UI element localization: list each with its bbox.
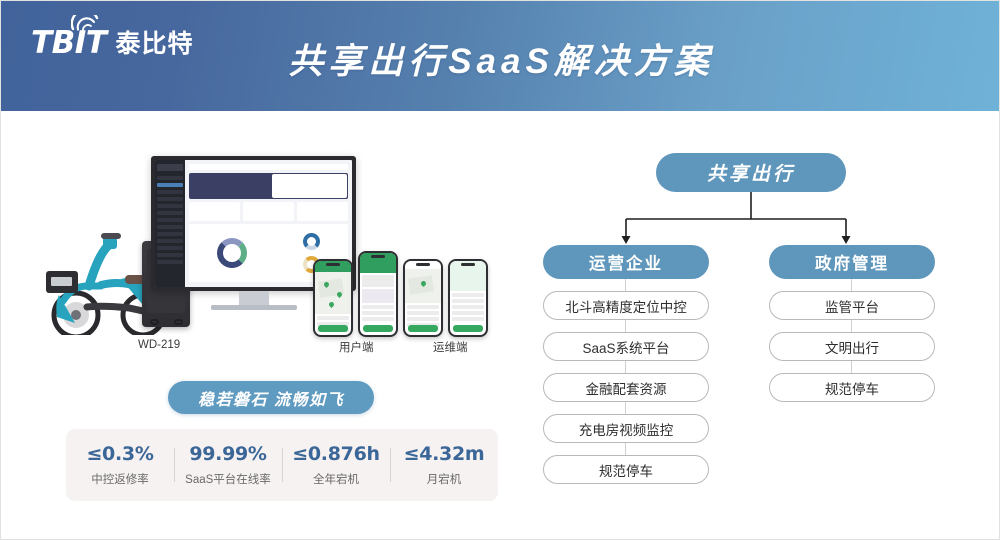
app-primary-button [318,325,348,332]
flow-connector [851,361,852,373]
solution-flowchart: 共享出行 运营企业 北斗高精度定位中控 SaaS系统平台 金融配套资源 充电房视… [521,111,1000,540]
phone-mockup [358,251,398,337]
stat-item: ≤0.3% 中控返修率 [66,443,174,488]
dashboard-stat-cards [189,202,348,221]
flow-leaf-government-1[interactable]: 监管平台 [769,291,935,320]
flow-connector [625,443,626,455]
flow-leaf-operator-1[interactable]: 北斗高精度定位中控 [543,291,709,320]
product-showcase: WD-219 用户端 运维端 稳若磐石 流畅如飞 ≤0.3% 中控返修率 99.… [1,111,521,540]
device-label-scooter: WD-219 [138,339,180,351]
stat-label: 全年宕机 [282,471,390,487]
stat-label: SaaS平台在线率 [174,471,282,487]
flow-node-root[interactable]: 共享出行 [656,153,846,192]
app-primary-button [408,325,438,332]
phone-screen [405,261,441,335]
slogan-badge: 稳若磐石 流畅如飞 [168,381,374,414]
stat-value: ≤0.876h [282,443,390,467]
dashboard-menu-item [157,176,183,180]
dashboard-menu-item [157,246,183,250]
flow-connector [625,279,626,291]
flow-node-branch-operator[interactable]: 运营企业 [543,245,709,279]
stat-item: ≤4.32m 月宕机 [390,443,498,488]
flow-node-branch-government[interactable]: 政府管理 [769,245,935,279]
stat-item: 99.99% SaaS平台在线率 [174,443,282,488]
dashboard-menu-item [157,232,183,236]
stat-value: 99.99% [174,443,282,467]
dashboard-menu-item [157,190,183,194]
dashboard-menu-item [157,211,183,215]
slide-root: TBIT 泰比特 共享出行SaaS解决方案 [0,0,1000,540]
donut-chart [303,233,320,250]
dashboard-logo [157,164,183,171]
page-header: TBIT 泰比特 共享出行SaaS解决方案 [1,1,1000,111]
device-label-ops-app: 运维端 [433,339,468,355]
app-map [405,269,441,303]
monitor-base [211,305,297,310]
flow-leaf-operator-4[interactable]: 充电房视频监控 [543,414,709,443]
map-pin-icon [336,291,343,298]
stats-bar: ≤0.3% 中控返修率 99.99% SaaS平台在线率 ≤0.876h 全年宕… [66,429,498,501]
dashboard-menu-item [157,204,183,208]
app-primary-button [453,325,483,332]
app-primary-button [363,325,393,332]
wifi-arc-icon [71,15,99,31]
page-title: 共享出行SaaS解决方案 [1,33,1000,84]
dashboard-menu-item [157,218,183,222]
dashboard-stat-card [297,202,348,221]
stat-value: ≤4.32m [390,443,498,467]
dashboard-menu-item [157,197,183,201]
dashboard-hero-card [189,173,348,199]
stat-item: ≤0.876h 全年宕机 [282,443,390,488]
dashboard-menu-item [157,260,183,264]
dashboard-menu-item [157,183,183,187]
map-pin-icon [328,301,335,308]
flow-connector [625,402,626,414]
phone-screen [315,261,351,335]
flow-leaf-operator-3[interactable]: 金融配套资源 [543,373,709,402]
flow-connector [625,361,626,373]
phone-screen [450,261,486,335]
cabinet-feet [142,319,190,325]
phone-notch [416,263,430,266]
device-label-user-app: 用户端 [339,339,374,355]
dashboard-menu-item [157,239,183,243]
phone-notch [326,263,340,266]
flow-leaf-government-2[interactable]: 文明出行 [769,332,935,361]
phone-mockup [403,259,443,337]
dashboard-sidebar [155,160,185,287]
dashboard-stat-card [243,202,294,221]
map-pin-icon [323,281,330,288]
phone-screen [360,253,396,335]
stat-value: ≤0.3% [66,443,174,467]
flow-leaf-government-3[interactable]: 规范停车 [769,373,935,402]
app-list [360,273,396,325]
dashboard-stat-card [189,202,240,221]
dashboard-menu-item [157,253,183,257]
stat-label: 月宕机 [390,471,498,487]
monitor-neck [239,291,269,305]
mobile-apps-image [313,251,488,337]
phone-mockup [313,259,353,337]
app-map [315,272,351,314]
phone-mockup [448,259,488,337]
donut-chart [217,238,247,268]
flow-leaf-operator-5[interactable]: 规范停车 [543,455,709,484]
dashboard-toolbar [189,164,348,170]
flow-connector [851,279,852,291]
map-pin-icon [420,280,427,287]
phone-notch [371,255,385,258]
flow-leaf-operator-2[interactable]: SaaS系统平台 [543,332,709,361]
flow-connector [851,320,852,332]
phone-notch [461,263,475,266]
flow-connector [625,320,626,332]
app-list [450,291,486,325]
stat-label: 中控返修率 [66,471,174,487]
dashboard-menu-item [157,225,183,229]
